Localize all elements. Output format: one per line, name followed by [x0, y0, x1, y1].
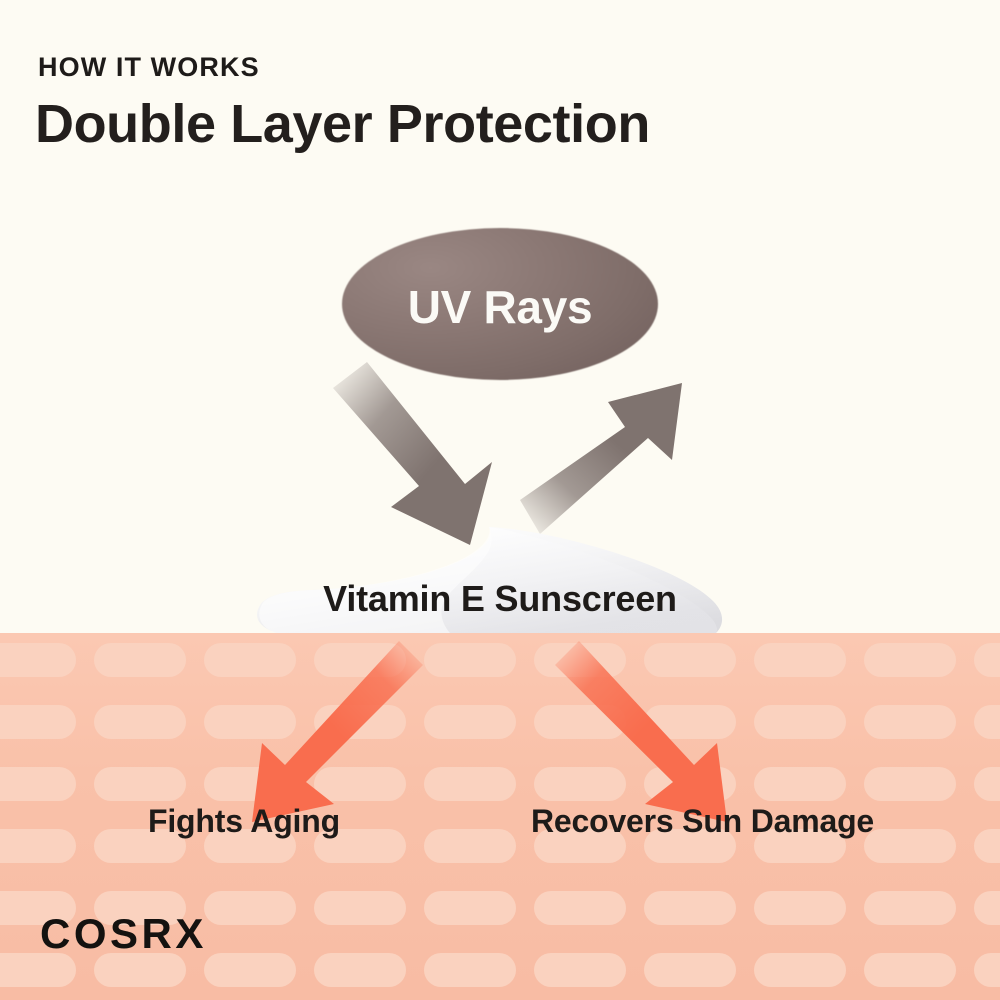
- benefit-left-arrow: [252, 641, 423, 822]
- benefit-label-recovers-sun-damage: Recovers Sun Damage: [531, 803, 874, 840]
- diagram-artwork: [0, 0, 1000, 1000]
- sunscreen-label: Vitamin E Sunscreen: [0, 578, 1000, 620]
- brand-logo-cosrx: COSRX: [40, 910, 207, 958]
- infographic-canvas: HOW IT WORKS Double Layer Protection UV …: [0, 0, 1000, 1000]
- benefit-right-arrow: [555, 641, 727, 822]
- uv-reflected-arrow: [520, 383, 682, 534]
- benefit-label-fights-aging: Fights Aging: [148, 803, 340, 840]
- uv-incoming-arrow: [333, 362, 492, 545]
